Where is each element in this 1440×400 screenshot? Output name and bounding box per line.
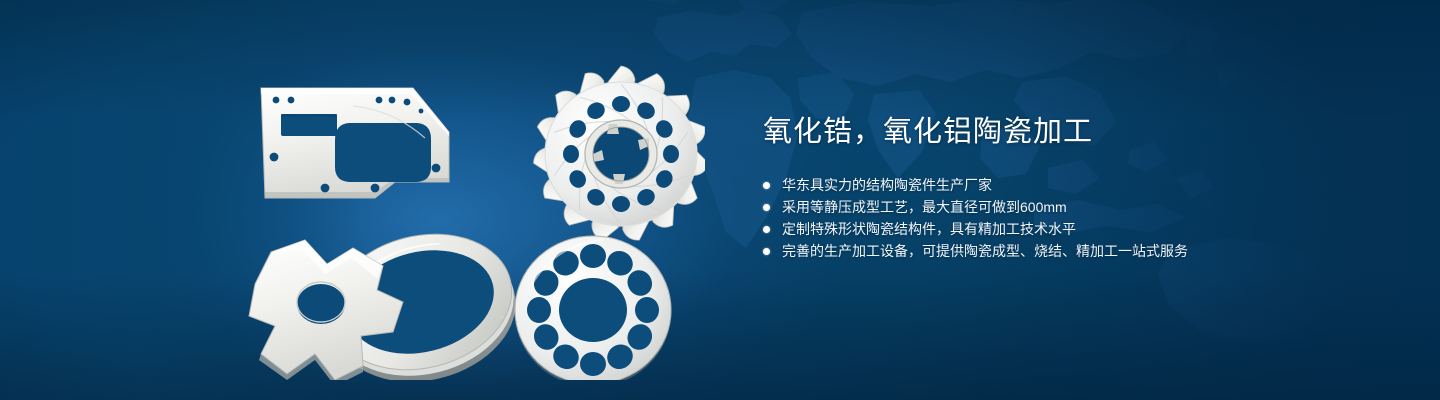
product-photo-group [235,40,705,380]
feature-item: 采用等静压成型工艺，最大直径可做到600mm [763,196,1383,218]
feature-item: 华东具实力的结构陶瓷件生产厂家 [763,174,1383,196]
bullet-dot-icon [763,226,770,233]
product-ceramic-impeller [532,66,705,243]
bullet-dot-icon [763,182,770,189]
feature-item: 定制特殊形状陶瓷结构件，具有精加工技术水平 [763,218,1383,240]
feature-text: 采用等静压成型工艺，最大直径可做到600mm [782,196,1067,218]
banner-copy: 氧化锆，氧化铝陶瓷加工 华东具实力的结构陶瓷件生产厂家 采用等静压成型工艺，最大… [763,112,1383,262]
product-ceramic-cross-and-rings [249,216,530,380]
feature-text: 华东具实力的结构陶瓷件生产厂家 [782,174,992,196]
feature-text: 定制特殊形状陶瓷结构件，具有精加工技术水平 [782,218,1076,240]
product-ceramic-plate [261,88,449,198]
feature-text: 完善的生产加工设备，可提供陶瓷成型、烧结、精加工一站式服务 [782,240,1188,262]
feature-item: 完善的生产加工设备，可提供陶瓷成型、烧结、精加工一站式服务 [763,240,1383,262]
bullet-dot-icon [763,204,770,211]
banner-feature-list: 华东具实力的结构陶瓷件生产厂家 采用等静压成型工艺，最大直径可做到600mm 定… [763,174,1383,262]
bullet-dot-icon [763,248,770,255]
banner-headline: 氧化锆，氧化铝陶瓷加工 [763,112,1383,152]
hero-banner: 氧化锆，氧化铝陶瓷加工 华东具实力的结构陶瓷件生产厂家 采用等静压成型工艺，最大… [0,0,1440,400]
product-ceramic-perforated-disc [515,236,671,380]
